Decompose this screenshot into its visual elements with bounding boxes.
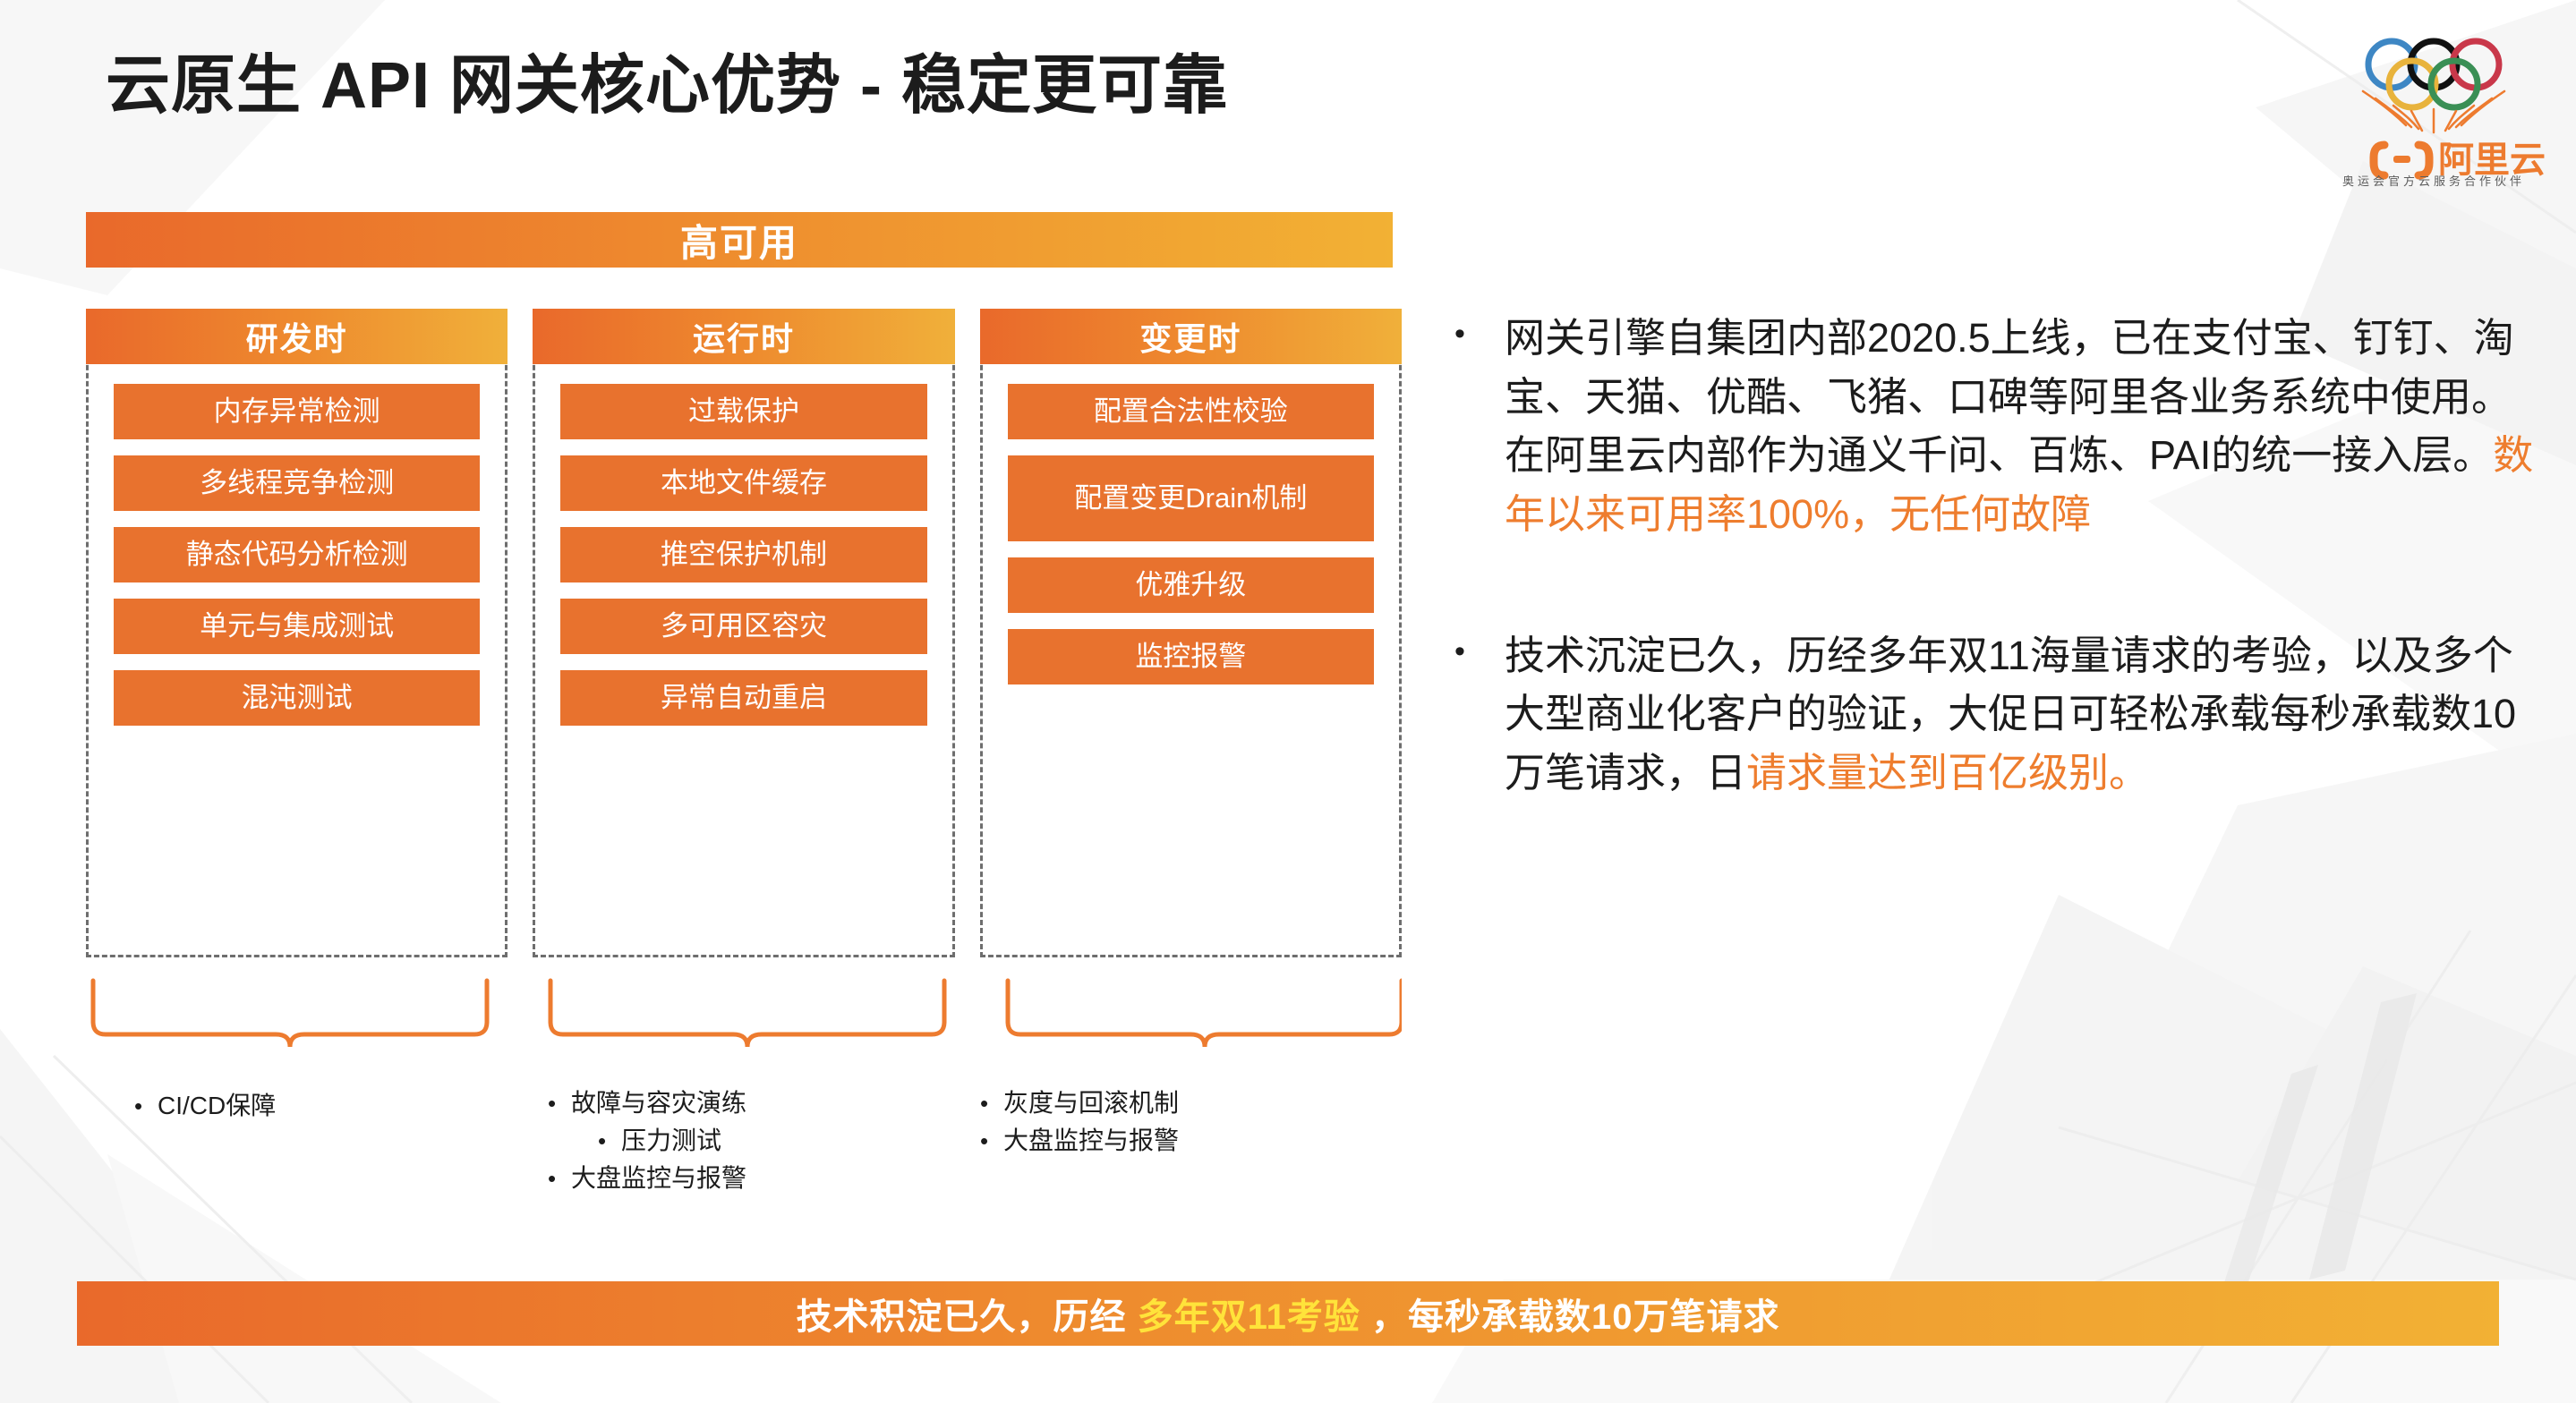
caption-text: 大盘监控与报警 bbox=[1003, 1122, 1179, 1160]
caption-text: 大盘监控与报警 bbox=[571, 1160, 746, 1197]
right-bullet-2: • 技术沉淀已久，历经多年双11海量请求的考验，以及多个大型商业化客户的验证，大… bbox=[1454, 626, 2542, 803]
caption-item: • 灰度与回滚机制 bbox=[980, 1084, 1179, 1122]
bullet-dot-icon: • bbox=[1454, 309, 1505, 356]
phase-column-runtime: 运行时 过载保护 本地文件缓存 推空保护机制 多可用区容灾 异常自动重启 bbox=[533, 309, 954, 957]
phase-item[interactable]: 监控报警 bbox=[1008, 629, 1374, 684]
phase-columns: 研发时 内存异常检测 多线程竞争检测 静态代码分析检测 单元与集成测试 混沌测试… bbox=[86, 309, 1402, 957]
bullet-plain-text: 网关引擎自集团内部2020.5上线，已在支付宝、钉钉、淘宝、天猫、优酷、飞猪、口… bbox=[1505, 315, 2514, 478]
caption-item: • 大盘监控与报警 bbox=[548, 1160, 746, 1197]
caption-item: • 大盘监控与报警 bbox=[980, 1122, 1179, 1160]
phase-item[interactable]: 多可用区容灾 bbox=[560, 599, 926, 654]
bullet-dot-icon: • bbox=[1454, 626, 1505, 674]
bottom-summary-banner: 技术积淀已久，历经 多年双11考验 ，每秒承载数10万笔请求 bbox=[77, 1281, 2499, 1346]
logo-tagline: 奥运会官方云服务合作伙伴 bbox=[2324, 172, 2544, 189]
phase-item[interactable]: 混沌测试 bbox=[114, 670, 480, 726]
bullet-dot-icon: • bbox=[134, 1089, 158, 1124]
phase-column-change: 变更时 配置合法性校验 配置变更Drain机制 优雅升级 监控报警 bbox=[980, 309, 1402, 957]
phase-item[interactable]: 内存异常检测 bbox=[114, 384, 480, 439]
bullet-dot-icon: • bbox=[548, 1161, 571, 1196]
caption-group-dev: • CI/CD保障 bbox=[134, 1087, 276, 1125]
caption-item: • CI/CD保障 bbox=[134, 1087, 276, 1125]
phase-item[interactable]: 异常自动重启 bbox=[560, 670, 926, 726]
caption-item: • 故障与容灾演练 bbox=[548, 1084, 746, 1122]
caption-text: 压力测试 bbox=[621, 1122, 721, 1160]
phase-item[interactable]: 过载保护 bbox=[560, 384, 926, 439]
phase-item[interactable]: 优雅升级 bbox=[1008, 557, 1374, 613]
high-availability-banner: 高可用 bbox=[86, 212, 1393, 268]
phase-item[interactable]: 多线程竞争检测 bbox=[114, 455, 480, 511]
bullet-dot-icon: • bbox=[980, 1086, 1003, 1121]
caption-text: 故障与容灾演练 bbox=[571, 1084, 746, 1122]
phase-items-change: 配置合法性校验 配置变更Drain机制 优雅升级 监控报警 bbox=[983, 364, 1399, 955]
bullet-dot-icon: • bbox=[980, 1124, 1003, 1159]
phase-column-dev: 研发时 内存异常检测 多线程竞争检测 静态代码分析检测 单元与集成测试 混沌测试 bbox=[86, 309, 508, 957]
banner-prefix: 技术积淀已久，历经 bbox=[796, 1297, 1137, 1337]
bullet-dot-icon: • bbox=[598, 1124, 621, 1159]
phase-header-dev: 研发时 bbox=[86, 309, 508, 364]
alibaba-cloud-logo: 阿里云 bbox=[2322, 13, 2546, 191]
right-bullet-1: • 网关引擎自集团内部2020.5上线，已在支付宝、钉钉、淘宝、天猫、优酷、飞猪… bbox=[1454, 309, 2542, 544]
phase-item[interactable]: 单元与集成测试 bbox=[114, 599, 480, 654]
phase-item[interactable]: 推空保护机制 bbox=[560, 527, 926, 582]
bullet-dot-icon: • bbox=[548, 1086, 571, 1121]
bullet-highlight-text: 请求量达到百亿级别。 bbox=[1746, 750, 2149, 795]
phase-item[interactable]: 配置变更Drain机制 bbox=[1008, 455, 1374, 541]
phase-item[interactable]: 本地文件缓存 bbox=[560, 455, 926, 511]
phase-items-runtime: 过载保护 本地文件缓存 推空保护机制 多可用区容灾 异常自动重启 bbox=[535, 364, 951, 955]
banner-suffix: ，每秒承载数10万笔请求 bbox=[1361, 1297, 1780, 1337]
right-bullet-text-1: 网关引擎自集团内部2020.5上线，已在支付宝、钉钉、淘宝、天猫、优酷、飞猪、口… bbox=[1505, 309, 2542, 544]
brace-dev bbox=[93, 981, 487, 1047]
phase-header-runtime: 运行时 bbox=[533, 309, 954, 364]
phase-item[interactable]: 配置合法性校验 bbox=[1008, 384, 1374, 439]
bottom-banner-text: 技术积淀已久，历经 多年双11考验 ，每秒承载数10万笔请求 bbox=[796, 1288, 1779, 1339]
column-braces bbox=[86, 975, 1402, 1056]
caption-group-runtime: • 故障与容灾演练 • 压力测试 • 大盘监控与报警 bbox=[548, 1084, 746, 1197]
high-availability-label: 高可用 bbox=[86, 212, 1393, 268]
caption-text: 灰度与回滚机制 bbox=[1003, 1084, 1179, 1122]
phase-item[interactable]: 静态代码分析检测 bbox=[114, 527, 480, 582]
phase-items-dev: 内存异常检测 多线程竞争检测 静态代码分析检测 单元与集成测试 混沌测试 bbox=[89, 364, 505, 955]
phase-header-change: 变更时 bbox=[980, 309, 1402, 364]
brace-change bbox=[1008, 981, 1402, 1047]
page-title: 云原生 API 网关核心优势 - 稳定更可靠 bbox=[106, 32, 1228, 126]
banner-highlight: 多年双11考验 bbox=[1138, 1297, 1361, 1337]
right-bullet-text-2: 技术沉淀已久，历经多年双11海量请求的考验，以及多个大型商业化客户的验证，大促日… bbox=[1505, 626, 2542, 803]
right-bullet-panel: • 网关引擎自集团内部2020.5上线，已在支付宝、钉钉、淘宝、天猫、优酷、飞猪… bbox=[1454, 309, 2542, 885]
brace-runtime bbox=[550, 981, 944, 1047]
caption-text: CI/CD保障 bbox=[158, 1087, 276, 1125]
caption-group-change: • 灰度与回滚机制 • 大盘监控与报警 bbox=[980, 1084, 1179, 1160]
caption-item: • 压力测试 bbox=[548, 1122, 746, 1160]
